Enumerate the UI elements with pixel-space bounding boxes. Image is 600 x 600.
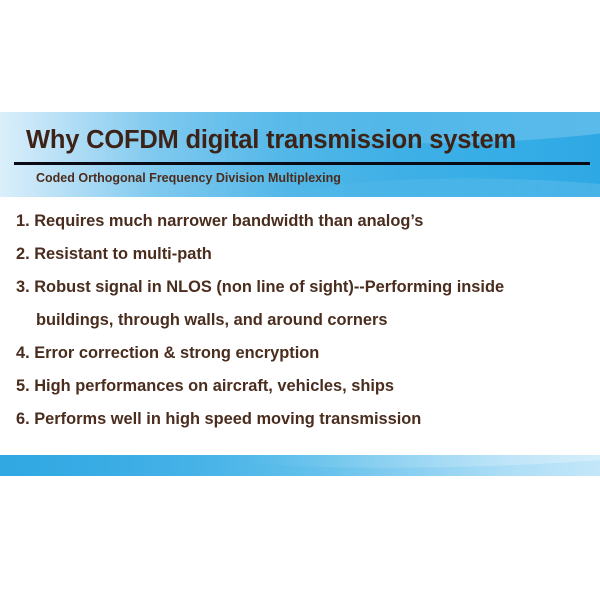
slide-subtitle: Coded Orthogonal Frequency Division Mult… (36, 171, 341, 185)
list-item: 6. Performs well in high speed moving tr… (0, 403, 600, 436)
list-item-text: 1. Requires much narrower bandwidth than… (16, 212, 423, 230)
list-item-text: 6. Performs well in high speed moving tr… (16, 410, 421, 428)
list-item: 2. Resistant to multi-path (0, 238, 600, 271)
footer-band (0, 455, 600, 476)
list-item: 1. Requires much narrower bandwidth than… (0, 205, 600, 238)
title-underline-rule (14, 162, 590, 165)
list-item-text: 4. Error correction & strong encryption (16, 344, 319, 362)
list-item-wrapped-text: buildings, through walls, and around cor… (16, 304, 592, 337)
list-item: 3. Robust signal in NLOS (non line of si… (0, 271, 600, 337)
page-title: Why COFDM digital transmission system (26, 126, 516, 155)
list-item: 5. High performances on aircraft, vehicl… (0, 370, 600, 403)
bullet-list: 1. Requires much narrower bandwidth than… (0, 205, 600, 436)
list-item: 4. Error correction & strong encryption (0, 337, 600, 370)
list-item-text: 5. High performances on aircraft, vehicl… (16, 377, 394, 395)
presentation-slide: Why COFDM digital transmission system Co… (0, 0, 600, 600)
list-item-text: 3. Robust signal in NLOS (non line of si… (16, 278, 504, 296)
list-item-text: 2. Resistant to multi-path (16, 245, 212, 263)
